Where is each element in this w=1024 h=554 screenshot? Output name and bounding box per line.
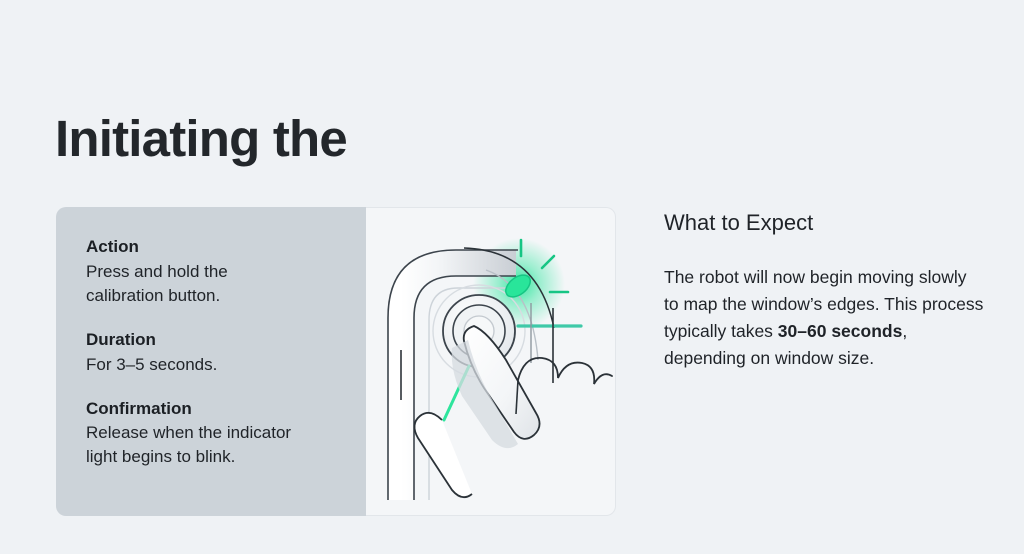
info-text-confirmation: Release when the indicator light begins … [86,421,340,469]
instruction-card: Action Press and hold the calibration bu… [56,207,616,516]
info-text-duration: For 3–5 seconds. [86,353,340,377]
expect-duration-highlight: 30–60 seconds [778,321,903,341]
second-finger [414,413,472,497]
info-label-confirmation: Confirmation [86,397,340,422]
info-block-action: Action Press and hold the calibration bu… [86,235,340,308]
what-to-expect-section: What to Expect The robot will now begin … [664,209,984,372]
calibration-illustration [366,208,616,516]
page-title-line-1: Initiating the [55,110,347,167]
info-block-duration: Duration For 3–5 seconds. [86,328,340,377]
info-label-duration: Duration [86,328,340,353]
instruction-info-panel: Action Press and hold the calibration bu… [56,207,366,516]
info-text-action: Press and hold the calibration button. [86,260,340,308]
info-block-confirmation: Confirmation Release when the indicator … [86,397,340,470]
knuckles [518,358,612,384]
illustration-panel [366,207,616,516]
what-to-expect-body: The robot will now begin moving slowly t… [664,264,984,373]
what-to-expect-heading: What to Expect [664,209,984,238]
info-label-action: Action [86,235,340,260]
